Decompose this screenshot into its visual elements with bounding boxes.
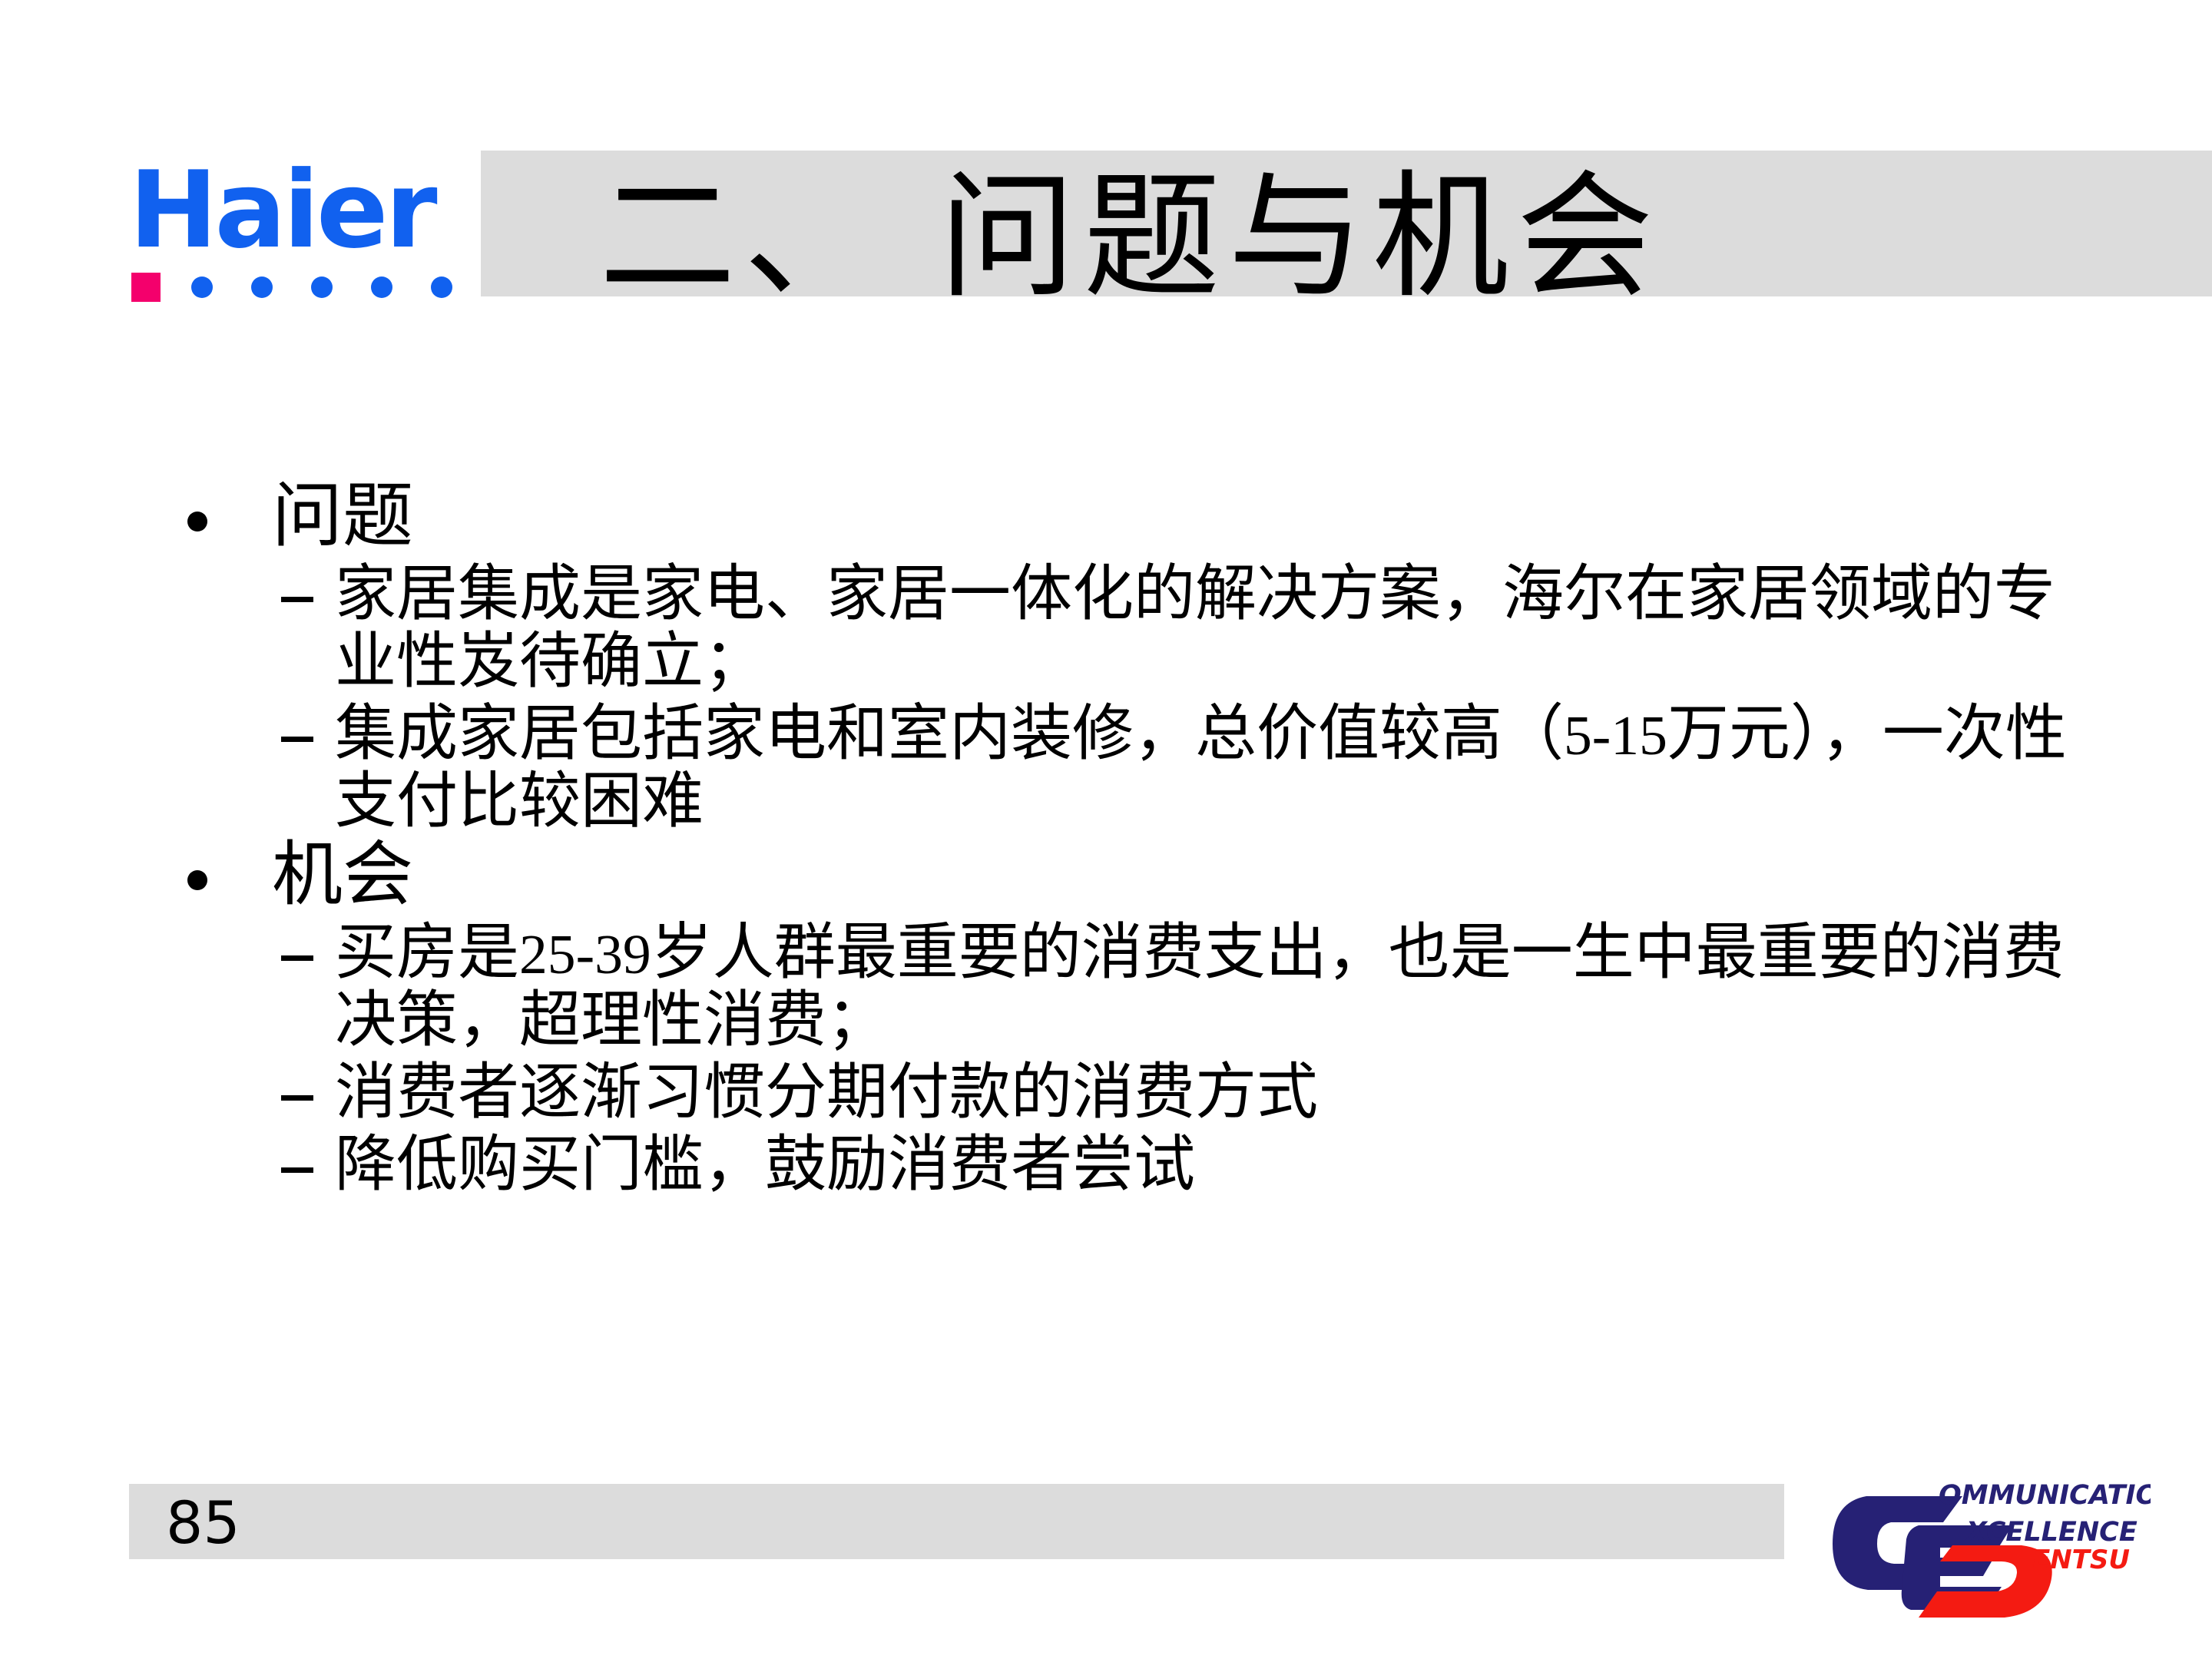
- ced-line-excellence: XCELLENCE: [1965, 1517, 2137, 1548]
- bullet-level1-opportunities: 机会: [129, 835, 2095, 914]
- bullet-level2-text: 家居集成是家电、家居一体化的解决方案，海尔在家居领域的专业性岌待确立；: [335, 560, 2095, 695]
- bullet-level2-opportunity-1: 买房是25-39岁人群最重要的消费支出，也是一生中最重要的消费决策，超理性消费；: [129, 919, 2095, 1054]
- ced-line-communications: OMMUNICATIONS: [1939, 1480, 2151, 1511]
- haier-dot-4-icon: [371, 276, 392, 298]
- haier-logo: Haier: [129, 157, 467, 296]
- ced-logo: OMMUNICATIONS XCELLENCE ENTSU: [1820, 1459, 2151, 1636]
- haier-pink-square-icon: [131, 273, 161, 302]
- bullet-dash-icon: [281, 1167, 313, 1173]
- haier-logo-dots: [131, 273, 446, 303]
- bullet-level1-label: 机会: [272, 833, 413, 916]
- bullet-level2-text: 集成家居包括家电和室内装修，总价值较高（5-15万元），一次性支付比较困难: [335, 700, 2095, 835]
- bullet-level2-opportunity-3: 降低购买门槛，鼓励消费者尝试: [129, 1131, 2095, 1198]
- bullet-level2-problem-1: 家居集成是家电、家居一体化的解决方案，海尔在家居领域的专业性岌待确立；: [129, 560, 2095, 695]
- bullet-level2-text: 买房是25-39岁人群最重要的消费支出，也是一生中最重要的消费决策，超理性消费；: [335, 919, 2095, 1054]
- bullet-level2-opportunity-2: 消费者逐渐习惯分期付款的消费方式: [129, 1058, 2095, 1126]
- slide-body: 问题 家居集成是家电、家居一体化的解决方案，海尔在家居领域的专业性岌待确立； 集…: [129, 476, 2095, 1444]
- page-number: 85: [166, 1488, 240, 1558]
- haier-dot-1-icon: [191, 276, 213, 298]
- haier-dot-2-icon: [251, 276, 273, 298]
- haier-wordmark: Haier: [129, 157, 435, 263]
- bullet-dash-icon: [281, 955, 313, 961]
- slide-title: 二、 问题与机会: [599, 167, 1905, 307]
- bullet-level2-problem-2: 集成家居包括家电和室内装修，总价值较高（5-15万元），一次性支付比较困难: [129, 700, 2095, 835]
- ced-logo-graphic: OMMUNICATIONS XCELLENCE ENTSU: [1820, 1459, 2151, 1636]
- bullet-dot-icon: [187, 512, 207, 531]
- haier-dot-3-icon: [311, 276, 333, 298]
- bullet-dot-icon: [187, 870, 207, 890]
- footer-band: [129, 1484, 1784, 1559]
- bullet-level1-label: 问题: [272, 475, 413, 557]
- bullet-dash-icon: [281, 737, 313, 742]
- bullet-level1-problems: 问题: [129, 476, 2095, 555]
- haier-dot-5-icon: [431, 276, 452, 298]
- bullet-level2-text: 降低购买门槛，鼓励消费者尝试: [335, 1131, 2095, 1198]
- ced-line-dentsu: ENTSU: [2032, 1545, 2130, 1575]
- bullet-dash-icon: [281, 597, 313, 602]
- bullet-level2-text: 消费者逐渐习惯分期付款的消费方式: [335, 1058, 2095, 1126]
- bullet-dash-icon: [281, 1095, 313, 1101]
